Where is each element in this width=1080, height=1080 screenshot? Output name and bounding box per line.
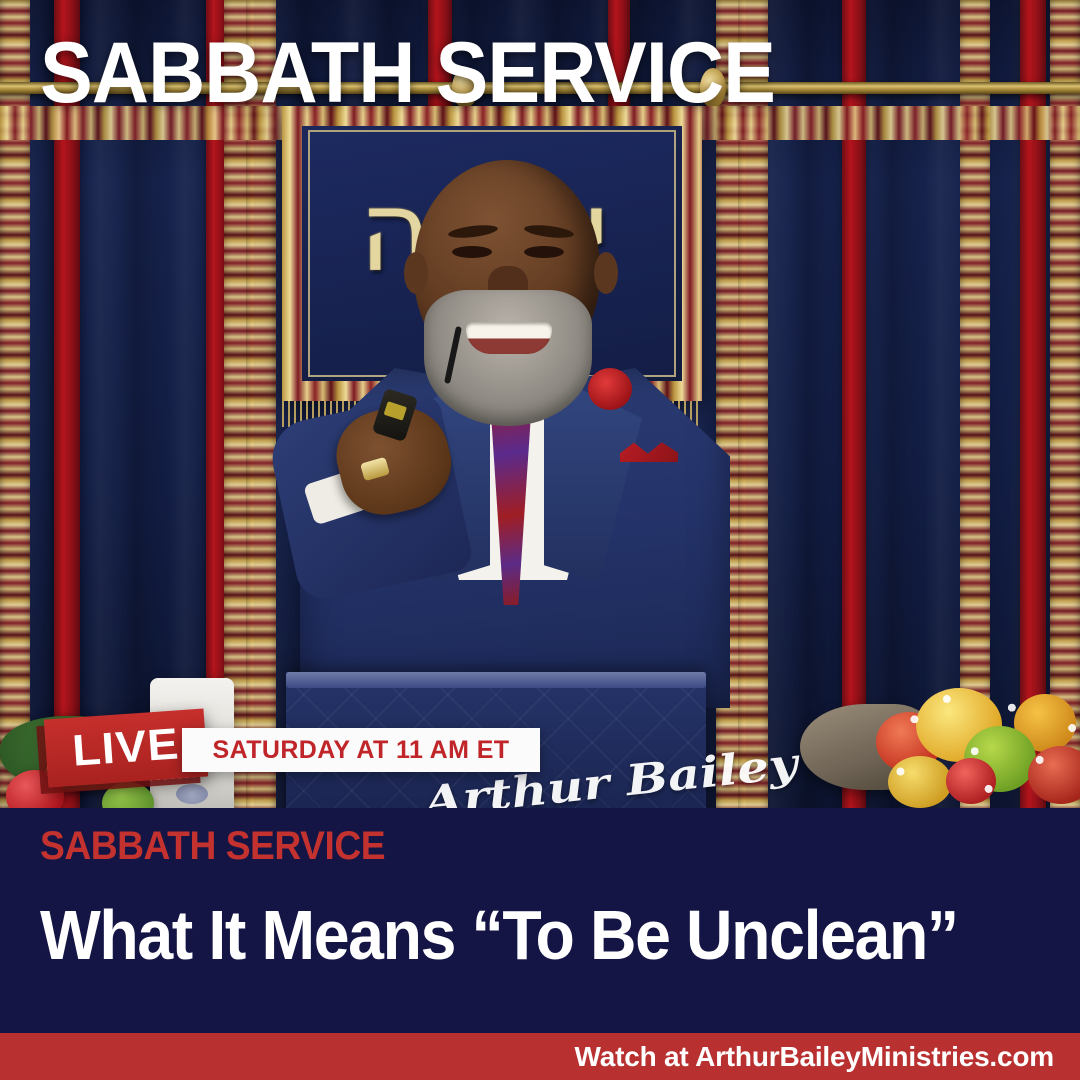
lower-third-kicker: SABBATH SERVICE <box>40 826 385 866</box>
lower-third-band: SABBATH SERVICE What It Means “To Be Unc… <box>0 808 1080 1033</box>
smiling-mouth <box>466 322 552 354</box>
schedule-bar: SATURDAY AT 11 AM ET <box>182 728 540 772</box>
pitcher-seal-icon <box>176 784 208 804</box>
flower-arrangement <box>868 660 1080 812</box>
eye-left <box>452 246 492 258</box>
footer-bar: Watch at ArthurBaileyMinistries.com <box>0 1033 1080 1080</box>
ear-left <box>404 252 428 294</box>
podium-top-edge <box>286 672 706 688</box>
lower-third-headline: What It Means “To Be Unclean” <box>40 900 958 970</box>
poster-top-title: SABBATH SERVICE <box>40 30 775 116</box>
eye-right <box>524 246 564 258</box>
ear-right <box>594 252 618 294</box>
speaker-figure <box>252 140 772 700</box>
boutonniere-flower <box>588 368 632 410</box>
schedule-text: SATURDAY AT 11 AM ET <box>213 736 510 765</box>
stage-photo: יהוה <box>0 0 1080 812</box>
footer-watch-text[interactable]: Watch at ArthurBaileyMinistries.com <box>575 1041 1054 1073</box>
sabbath-service-poster: יהוה <box>0 0 1080 1080</box>
live-badge-label: LIVE <box>71 722 181 773</box>
babys-breath-accents <box>868 670 1080 812</box>
